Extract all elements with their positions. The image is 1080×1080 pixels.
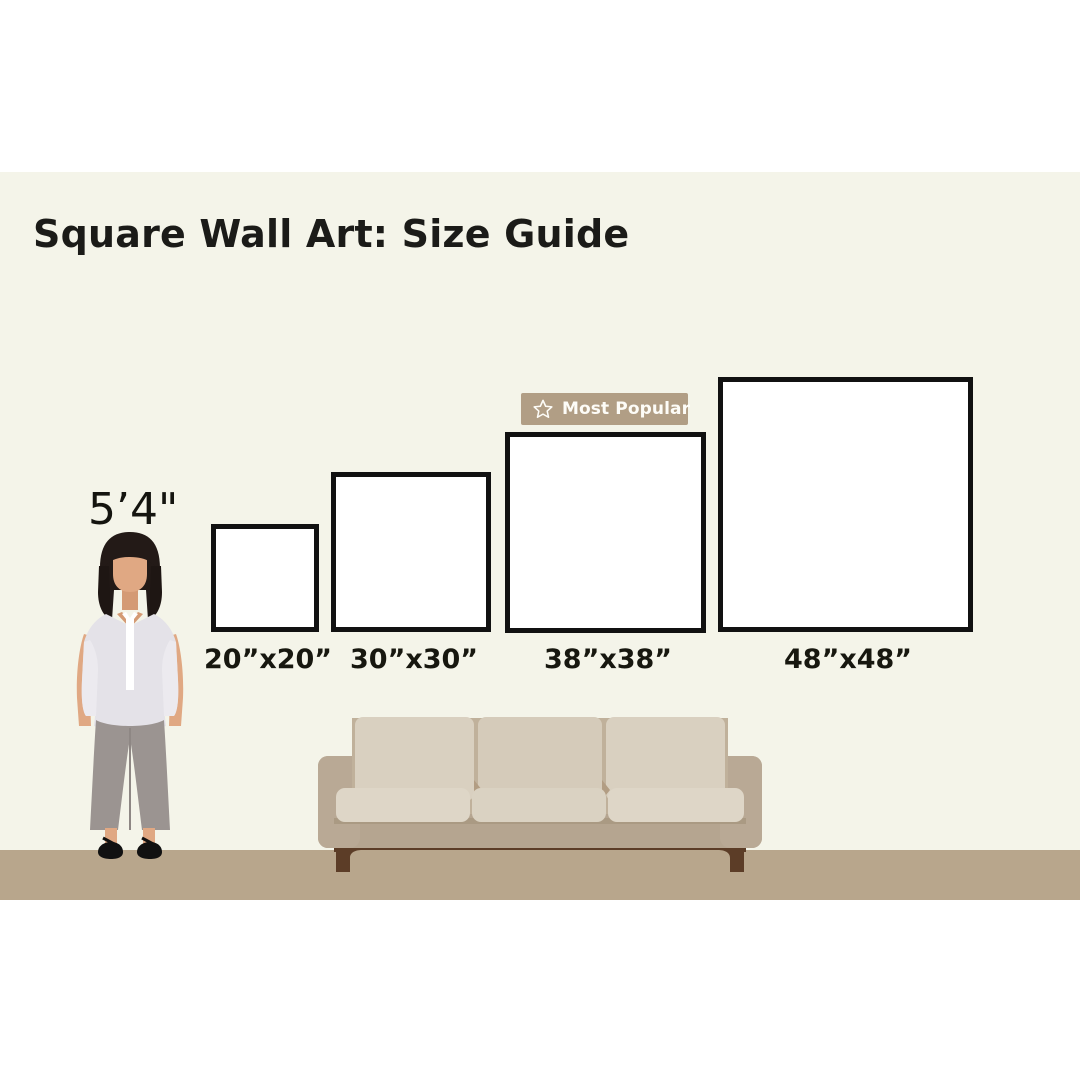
page-title: Square Wall Art: Size Guide (33, 212, 629, 256)
art-frame-label-38: 38”x38” (544, 644, 666, 675)
most-popular-badge[interactable]: Most Popular (521, 393, 688, 425)
art-frame-38[interactable] (505, 432, 706, 633)
star-outline-icon (532, 398, 554, 420)
art-frame-label-20: 20”x20” (204, 644, 326, 675)
art-frame-20[interactable] (211, 524, 319, 632)
most-popular-label: Most Popular (562, 399, 690, 419)
art-frame-30[interactable] (331, 472, 491, 632)
art-frame-48[interactable] (718, 377, 973, 632)
art-frame-label-48: 48”x48” (784, 644, 906, 675)
standing-woman-figure (60, 530, 200, 862)
size-guide-illustration: Square Wall Art: Size Guide 5’4" (0, 0, 1080, 1080)
figure-height-label: 5’4" (88, 484, 178, 535)
art-frame-label-30: 30”x30” (350, 644, 472, 675)
three-seat-sofa (300, 700, 780, 880)
